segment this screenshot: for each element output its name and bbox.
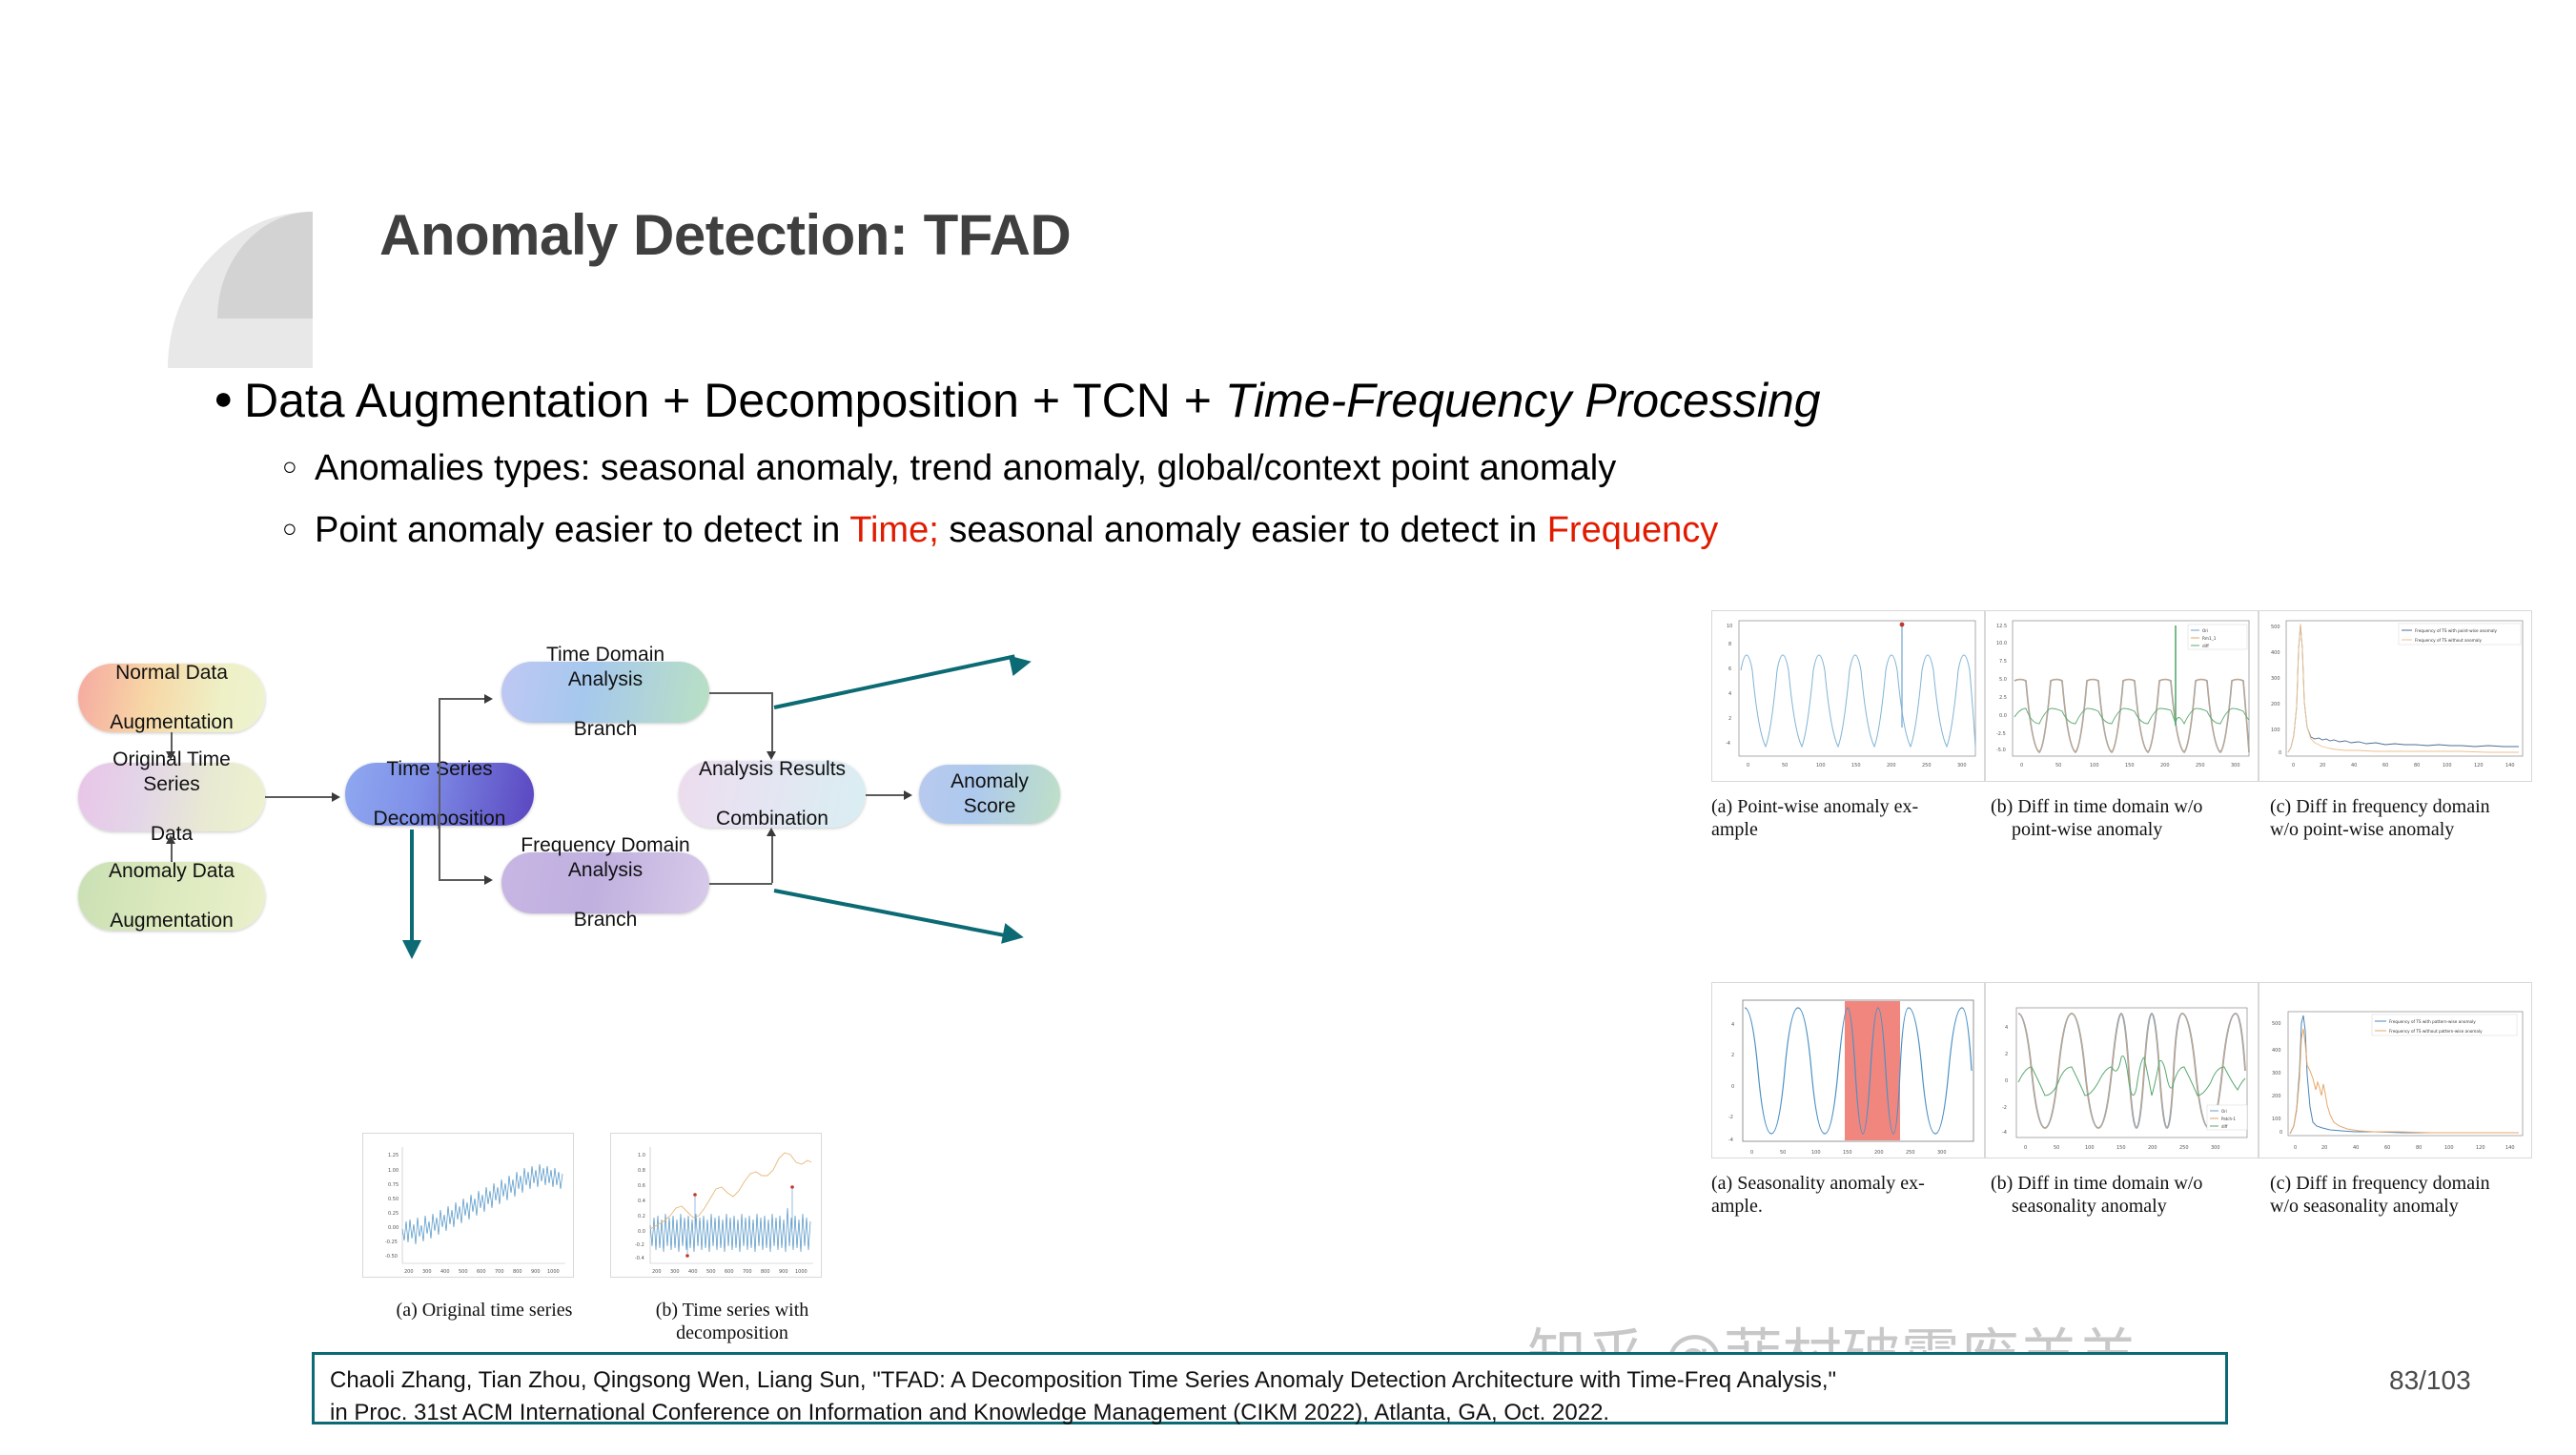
svg-text:200: 200 [2160,763,2170,768]
caption-line2: w/o seasonality anomaly [2270,1195,2545,1218]
caption-line2: ample. [1711,1195,1987,1218]
svg-text:2: 2 [1731,1053,1734,1058]
bullet-main-text: Data Augmentation + Decomposition + TCN … [244,374,2479,427]
arrowhead-down-combination [767,751,776,760]
svg-text:300: 300 [2271,676,2280,682]
svg-text:80: 80 [2416,1145,2422,1151]
svg-text:400: 400 [688,1269,698,1275]
svg-text:250: 250 [1906,1150,1915,1156]
svg-text:300: 300 [2231,763,2240,768]
connector-anomaly-to-original [171,843,173,862]
chart-point-wise-anomaly-example-svg: 1086 42-4 050100 150200250 300 [1712,611,1985,782]
svg-text:40: 40 [2351,763,2357,768]
bottom-left-captions: (a) Original time series (b) Time series… [362,1299,858,1345]
flow-node-normal-data-augmentation: Normal Data Augmentation [78,664,265,732]
svg-text:Frequency of TS with point-wis: Frequency of TS with point-wise anomaly [2415,628,2498,633]
flow-node-label-line1: Anomaly Score [929,769,1051,820]
svg-text:-4: -4 [1728,1137,1733,1143]
svg-text:50: 50 [1780,1150,1786,1156]
svg-text:300: 300 [1937,1150,1947,1156]
arrowhead-up-original [166,835,175,844]
svg-text:10: 10 [1727,624,1732,629]
svg-text:10.0: 10.0 [1996,641,2007,646]
svg-text:0.0: 0.0 [1999,713,2007,719]
svg-text:200: 200 [1874,1150,1884,1156]
flow-node-label-line2: Branch [511,717,700,742]
svg-text:0.25: 0.25 [388,1211,399,1217]
svg-text:-2.5: -2.5 [1996,731,2006,737]
teal-arrow-down-shaft [410,830,414,944]
bullet-sub-1: ○ Anomalies types: seasonal anomaly, tre… [191,448,2479,489]
bullet-sub-2-part2: seasonal anomaly easier to detect in [939,510,1547,550]
svg-text:50: 50 [1782,763,1788,768]
svg-text:300: 300 [2272,1071,2281,1076]
bottom-left-figure-group: 1.251.000.75 0.500.250.00 -0.25-0.50 200… [362,1133,858,1345]
svg-text:-2: -2 [1728,1115,1733,1120]
svg-text:100: 100 [2085,1145,2095,1151]
svg-text:250: 250 [1922,763,1932,768]
bottom-right-captions: (a) Seasonality anomaly ex- ample. (b) D… [1711,1172,2550,1219]
svg-text:100: 100 [2444,1145,2454,1151]
svg-text:4: 4 [1731,1022,1734,1028]
caption-point-wise-anomaly-example: (a) Point-wise anomaly ex- ample [1711,795,1991,842]
top-right-captions: (a) Point-wise anomaly ex- ample (b) Dif… [1711,795,2550,842]
svg-text:-2: -2 [2002,1105,2007,1111]
svg-text:150: 150 [2125,763,2135,768]
svg-text:100: 100 [2271,727,2280,733]
svg-text:300: 300 [670,1269,680,1275]
arrowhead-right-decomposition [332,792,340,802]
bullet-main-plain: Data Augmentation + Decomposition + TCN … [244,374,1225,427]
svg-text:200: 200 [404,1269,414,1275]
svg-text:7.5: 7.5 [1999,659,2007,665]
svg-text:Patch-1: Patch-1 [2221,1117,2236,1121]
svg-text:800: 800 [513,1269,522,1275]
svg-text:100: 100 [2443,763,2452,768]
svg-text:1.00: 1.00 [388,1168,399,1174]
bullet-sub-2-part1: Point anomaly easier to detect in [315,510,849,550]
svg-text:200: 200 [2271,702,2280,707]
svg-text:2.5: 2.5 [1999,695,2007,701]
svg-text:500: 500 [2271,625,2280,630]
decorative-arc-graphic [168,212,313,368]
svg-text:diff: diff [2202,644,2209,648]
svg-text:20: 20 [2320,763,2325,768]
bullet-marker-filled: ● [191,374,244,424]
connector-time-branch-out [709,692,772,694]
caption-diff-time-domain-point-wise: (b) Diff in time domain w/o point-wise a… [1991,795,2270,842]
flow-node-label-line2: Branch [511,908,700,932]
svg-text:200: 200 [652,1269,662,1275]
caption-line1: (a) Seasonality anomaly ex- [1711,1172,1987,1195]
svg-text:2: 2 [1728,716,1731,722]
legend-top-right-b: Ori Rm1_1 diff [2188,625,2247,649]
svg-text:120: 120 [2474,763,2484,768]
arrowhead-right-score [904,790,912,800]
svg-text:200: 200 [2148,1145,2157,1151]
svg-text:-0.25: -0.25 [385,1240,398,1245]
svg-text:200: 200 [1887,763,1896,768]
teal-arrow-downright-shaft [774,889,1009,938]
svg-text:150: 150 [2116,1145,2126,1151]
svg-text:0.8: 0.8 [638,1168,645,1174]
svg-text:0.50: 0.50 [388,1197,399,1202]
svg-text:-5.0: -5.0 [1996,748,2006,753]
svg-text:0: 0 [2020,763,2023,768]
svg-text:0: 0 [2294,1145,2297,1151]
decorative-arc-inner [217,212,313,318]
bullet-marker-hollow-1: ○ [191,448,315,485]
svg-text:-4: -4 [2002,1130,2007,1136]
svg-text:4: 4 [2005,1025,2008,1031]
svg-text:250: 250 [2196,763,2205,768]
svg-text:120: 120 [2476,1145,2485,1151]
bullet-main: ● Data Augmentation + Decomposition + TC… [191,374,2479,427]
flow-node-label-line1: Time Domain Analysis [511,643,700,693]
svg-text:Frequency of TS with pattern-w: Frequency of TS with pattern-wise anomal… [2389,1019,2476,1024]
flow-node-time-domain-analysis-branch: Time Domain Analysis Branch [501,662,709,723]
flow-node-original-time-series-data: Original Time Series Data [78,763,265,831]
svg-text:0: 0 [2280,1130,2282,1136]
svg-text:Ori: Ori [2202,628,2208,633]
teal-arrow-upright-head [1009,651,1033,676]
svg-text:1000: 1000 [547,1269,560,1275]
flow-node-anomaly-score: Anomaly Score [919,765,1060,824]
svg-text:-4: -4 [1726,741,1730,747]
tfad-architecture-flowchart: Normal Data Augmentation Original Time S… [57,648,1735,1144]
bottom-right-figure-group: 420 -2-4 050100 150200250 300 420 -2-4 0… [1711,982,2550,1219]
svg-text:0.4: 0.4 [638,1199,645,1204]
svg-text:1000: 1000 [795,1269,808,1275]
caption-diff-frequency-domain-point-wise: (c) Diff in frequency domain w/o point-w… [2270,795,2549,842]
bottom-left-figure-row: 1.251.000.75 0.500.250.00 -0.25-0.50 200… [362,1133,858,1278]
svg-text:-0.2: -0.2 [635,1242,644,1248]
slide-title: Anomaly Detection: TFAD [379,202,1071,268]
svg-text:8: 8 [1728,642,1731,647]
svg-text:400: 400 [2272,1048,2281,1054]
svg-text:300: 300 [2211,1145,2220,1151]
svg-text:1.25: 1.25 [388,1153,399,1158]
connector-decomposition-branch-vertical [439,698,440,879]
svg-text:400: 400 [2271,650,2280,656]
svg-text:200: 200 [2272,1094,2281,1099]
svg-text:0: 0 [2005,1078,2008,1084]
svg-text:5.0: 5.0 [1999,677,2007,683]
svg-text:20: 20 [2321,1145,2327,1151]
chart-seasonality-anomaly-example: 420 -2-4 050100 150200250 300 [1711,982,1985,1158]
chart-seasonality-anomaly-example-svg: 420 -2-4 050100 150200250 300 [1712,983,1985,1158]
caption-line2: w/o point-wise anomaly [2270,818,2545,841]
svg-text:0.00: 0.00 [388,1225,399,1231]
svg-text:300: 300 [1957,763,1967,768]
flow-node-frequency-domain-analysis-branch: Frequency Domain Analysis Branch [501,852,709,913]
chart-original-time-series: 1.251.000.75 0.500.250.00 -0.25-0.50 200… [362,1133,574,1278]
legend-bottom-right-c: Frequency of TS with pattern-wise anomal… [2372,1014,2517,1035]
chart-diff-time-domain-seasonality-svg: 420 -2-4 050100 150200250 300 Ori Patch-… [1986,983,2259,1158]
caption-line1: (c) Diff in frequency domain [2270,1172,2545,1195]
svg-text:800: 800 [761,1269,770,1275]
svg-text:60: 60 [2382,763,2388,768]
teal-arrow-upright-shaft [774,654,1015,709]
chart-diff-frequency-domain-point-wise-svg: 500400300 2001000 02040 6080100 120140 F… [2259,611,2532,782]
connector-decomposition-to-freq-branch [439,879,486,881]
chart-original-time-series-svg: 1.251.000.75 0.500.250.00 -0.25-0.50 200… [363,1134,574,1278]
svg-text:0: 0 [1731,1084,1734,1090]
caption-line2: point-wise anomaly [1991,818,2266,841]
svg-text:100: 100 [1811,1150,1821,1156]
svg-text:0.2: 0.2 [638,1214,645,1219]
svg-text:700: 700 [743,1269,752,1275]
flow-node-label-line1: Analysis Results [699,757,846,782]
svg-text:0: 0 [2279,750,2281,756]
svg-text:400: 400 [440,1269,450,1275]
caption-line2: seasonality anomaly [1991,1195,2266,1218]
bullet-list: ● Data Augmentation + Decomposition + TC… [191,374,2479,550]
bullet-sub-1-text: Anomalies types: seasonal anomaly, trend… [315,448,2479,489]
svg-text:4: 4 [1728,691,1731,697]
flow-node-analysis-results-combination: Analysis Results Combination [679,761,866,828]
caption-line2: ample [1711,818,1987,841]
svg-text:0.75: 0.75 [388,1182,399,1188]
top-right-figure-group: 1086 42-4 050100 150200250 300 12.510.07… [1711,610,2550,842]
flow-node-label-line1: Frequency Domain Analysis [511,833,700,884]
connector-freq-branch-out [709,883,772,885]
svg-text:80: 80 [2414,763,2420,768]
citation-box: Chaoli Zhang, Tian Zhou, Qingsong Wen, L… [312,1352,2228,1424]
svg-text:-0.4: -0.4 [635,1256,644,1261]
flow-node-label-line1: Anomaly Data [109,859,235,884]
chart-diff-time-domain-seasonality: 420 -2-4 050100 150200250 300 Ori Patch-… [1985,982,2259,1158]
bullet-sub-2: ○ Point anomaly easier to detect in Time… [191,510,2479,551]
chart-time-series-with-decomposition-svg: 1.00.80.6 0.40.20.0 -0.2-0.4 200300400 5… [611,1134,822,1278]
caption-time-series-with-decomposition: (b) Time series with decomposition [610,1299,858,1345]
svg-text:700: 700 [495,1269,504,1275]
svg-text:500: 500 [2272,1021,2281,1027]
svg-text:0: 0 [1747,763,1749,768]
chart-point-wise-anomaly-example: 1086 42-4 050100 150200250 300 [1711,610,1985,782]
chart-diff-time-domain-point-wise-svg: 12.510.07.5 5.02.50.0 -2.5-5.0 050100 15… [1986,611,2259,782]
svg-text:100: 100 [2090,763,2099,768]
caption-diff-time-domain-seasonality: (b) Diff in time domain w/o seasonality … [1991,1172,2270,1219]
svg-text:100: 100 [1816,763,1826,768]
svg-text:0.6: 0.6 [638,1183,645,1189]
svg-text:2: 2 [2005,1052,2008,1057]
svg-text:Ori: Ori [2221,1109,2227,1114]
svg-text:140: 140 [2505,763,2515,768]
connector-normal-to-original [171,732,173,753]
connector-freq-branch-up [771,835,773,883]
svg-text:0: 0 [2292,763,2295,768]
caption-line1: (a) Point-wise anomaly ex- [1711,795,1987,818]
svg-text:500: 500 [459,1269,468,1275]
connector-original-to-decomposition [265,796,334,798]
caption-seasonality-anomaly-example: (a) Seasonality anomaly ex- ample. [1711,1172,1991,1219]
connector-decomposition-to-time-branch [439,698,486,700]
svg-text:150: 150 [1843,1150,1852,1156]
svg-text:140: 140 [2505,1145,2515,1151]
flow-node-label-line1: Normal Data [110,661,234,686]
bottom-right-figure-row: 420 -2-4 050100 150200250 300 420 -2-4 0… [1711,982,2550,1158]
svg-text:0: 0 [2024,1145,2027,1151]
legend-bottom-right-b: Ori Patch-1 diff [2207,1105,2247,1130]
citation-line-2: in Proc. 31st ACM International Conferen… [330,1397,2210,1429]
caption-line1: (c) Diff in frequency domain [2270,795,2545,818]
svg-text:250: 250 [2179,1145,2189,1151]
svg-text:40: 40 [2353,1145,2359,1151]
caption-original-time-series: (a) Original time series [362,1299,610,1345]
bullet-sub-2-highlight-frequency: Frequency [1547,510,1719,550]
citation-line-1: Chaoli Zhang, Tian Zhou, Qingsong Wen, L… [330,1364,2210,1397]
caption-line1: (b) Diff in time domain w/o [1991,1172,2266,1195]
svg-text:-0.50: -0.50 [385,1254,398,1260]
bullet-marker-hollow-2: ○ [191,510,315,547]
svg-text:Frequency of TS without patter: Frequency of TS without pattern-wise ano… [2389,1029,2483,1034]
svg-text:50: 50 [2054,1145,2059,1151]
svg-text:0: 0 [1750,1150,1753,1156]
svg-text:60: 60 [2384,1145,2390,1151]
svg-text:600: 600 [725,1269,734,1275]
flow-node-label-line2: Augmentation [109,909,235,933]
svg-text:6: 6 [1728,666,1731,672]
arrowhead-right-freq-branch [484,875,493,885]
flow-node-anomaly-data-augmentation: Anomaly Data Augmentation [78,862,265,931]
teal-arrow-downright-head [1001,923,1026,948]
svg-text:Rm1_1: Rm1_1 [2202,636,2217,641]
chart-diff-frequency-domain-point-wise: 500400300 2001000 02040 6080100 120140 F… [2259,610,2532,782]
figure-gap [574,1133,610,1278]
caption-diff-frequency-domain-seasonality: (c) Diff in frequency domain w/o seasona… [2270,1172,2549,1219]
arrowhead-down-original [166,751,175,760]
bullet-main-italic: Time-Frequency Processing [1225,374,1821,427]
svg-text:150: 150 [1851,763,1861,768]
connector-combination-to-score [866,794,908,796]
svg-text:0.0: 0.0 [638,1229,645,1235]
svg-text:1.0: 1.0 [638,1153,645,1158]
svg-text:50: 50 [2055,763,2061,768]
svg-text:100: 100 [2272,1117,2281,1122]
caption-line1: (b) Diff in time domain w/o [1991,795,2266,818]
chart-diff-frequency-domain-seasonality-svg: 500400300 2001000 02040 6080100 120140 F… [2259,983,2532,1158]
legend-top-right-c: Frequency of TS with point-wise anomaly … [2399,624,2521,645]
chart-time-series-with-decomposition: 1.00.80.6 0.40.20.0 -0.2-0.4 200300400 5… [610,1133,822,1278]
svg-text:600: 600 [477,1269,486,1275]
page-number: 83/103 [2389,1365,2471,1396]
svg-text:500: 500 [706,1269,716,1275]
teal-arrow-down-head [402,940,421,959]
svg-text:12.5: 12.5 [1996,624,2007,629]
svg-text:300: 300 [422,1269,432,1275]
bullet-sub-2-highlight-time: Time; [849,510,939,550]
arrowhead-up-combination [767,828,776,836]
svg-text:Frequency of TS without anomal: Frequency of TS without anomaly [2415,638,2483,643]
top-right-figure-row: 1086 42-4 050100 150200250 300 12.510.07… [1711,610,2550,782]
svg-text:900: 900 [779,1269,788,1275]
connector-time-branch-down [771,692,773,753]
svg-text:900: 900 [531,1269,541,1275]
chart-diff-time-domain-point-wise: 12.510.07.5 5.02.50.0 -2.5-5.0 050100 15… [1985,610,2259,782]
chart-diff-frequency-domain-seasonality: 500400300 2001000 02040 6080100 120140 F… [2259,982,2532,1158]
arrowhead-right-time-branch [484,694,493,704]
bullet-sub-2-text: Point anomaly easier to detect in Time; … [315,510,2479,551]
svg-text:diff: diff [2221,1124,2228,1129]
